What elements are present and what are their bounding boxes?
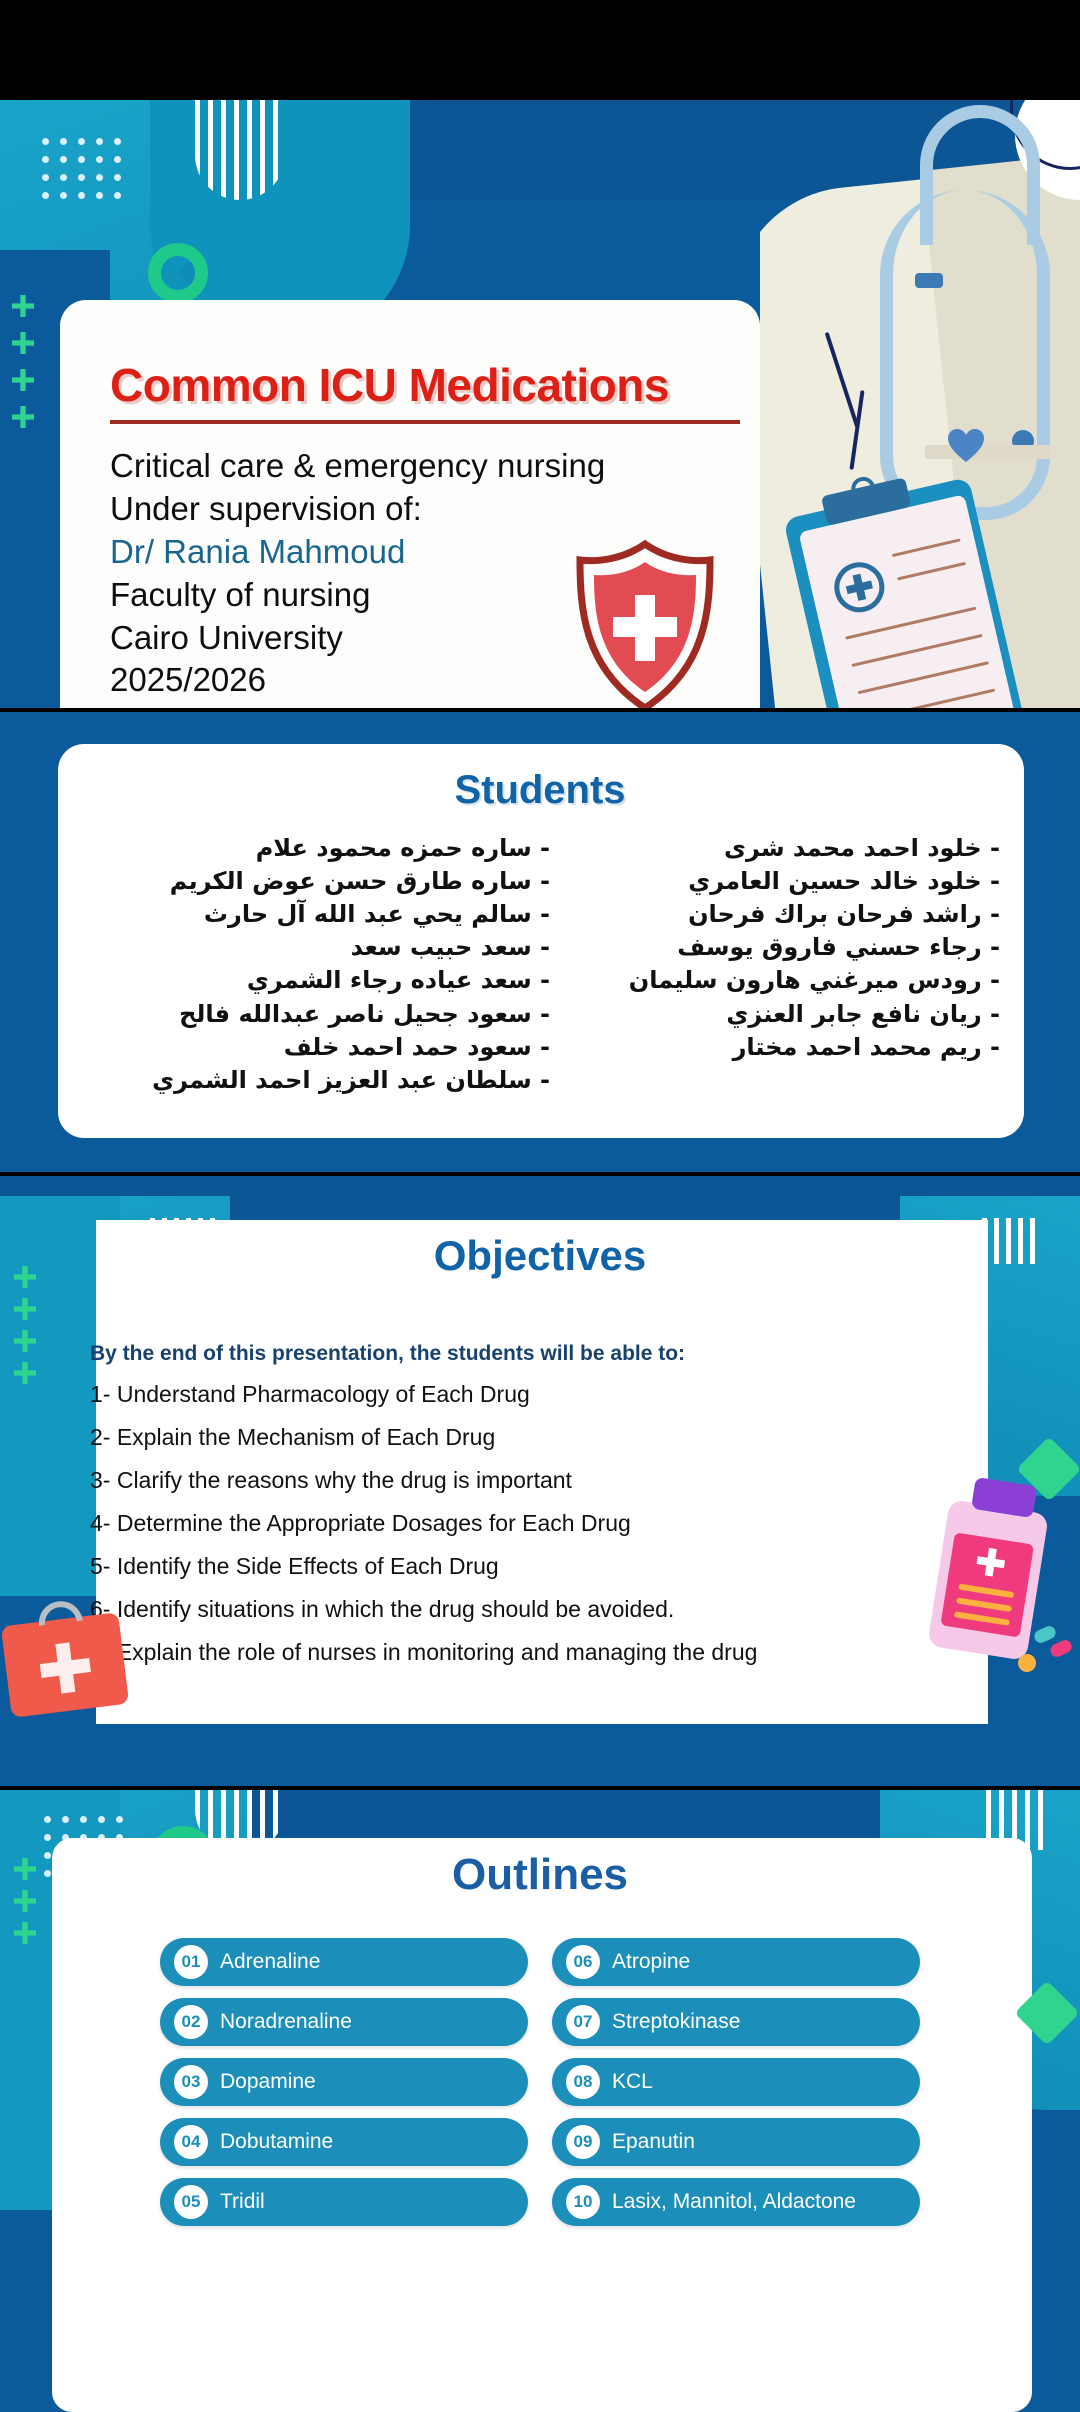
list-item: - سالم يحي عبد الله آل حارث [110, 898, 550, 931]
outline-label: KCL [612, 2070, 653, 2094]
outline-item-tridil[interactable]: 05 Tridil [160, 2178, 528, 2226]
list-item: 6- Identify situations in which the drug… [90, 1596, 970, 1623]
presentation-screenshot: Common ICU Medications Critical care & e… [0, 0, 1080, 2412]
stethoscope-clip [915, 273, 943, 288]
list-item: 3- Clarify the reasons why the drug is i… [90, 1467, 970, 1494]
outline-item-dopamine[interactable]: 03 Dopamine [160, 2058, 528, 2106]
outline-number: 09 [566, 2125, 600, 2159]
outline-item-atropine[interactable]: 06 Atropine [552, 1938, 920, 1986]
subtitle-line-6: 2025/2026 [110, 659, 605, 702]
students-column-right: - خلود احمد محمد شرى - خلود خالد حسين ال… [580, 832, 1000, 1064]
list-item: 5- Identify the Side Effects of Each Dru… [90, 1553, 970, 1580]
outline-number: 05 [174, 2185, 208, 2219]
list-item: - سعود جحيل ناصر عبدالله فالح [110, 998, 550, 1031]
outline-label: Tridil [220, 2190, 265, 2214]
subtitle-line-5: Cairo University [110, 617, 605, 660]
outline-item-lasix-mannitol-aldactone[interactable]: 10 Lasix, Mannitol, Aldactone [552, 2178, 920, 2226]
list-item: - رودس ميرغني هارون سليمان [580, 964, 1000, 997]
outlines-heading: Outlines [0, 1850, 1080, 1900]
list-item: - سعد حبيب سعد [110, 931, 550, 964]
outline-number: 10 [566, 2185, 600, 2219]
outline-number: 06 [566, 1945, 600, 1979]
medical-cross-icon [975, 1546, 1007, 1578]
outline-item-streptokinase[interactable]: 07 Streptokinase [552, 1998, 920, 2046]
outline-label: Dobutamine [220, 2130, 333, 2154]
subtitle-line-2: Under supervision of: [110, 488, 605, 531]
students-heading: Students [0, 768, 1080, 813]
outline-label: Atropine [612, 1950, 690, 1974]
list-item: - ساره حمزه محمود علام [110, 832, 550, 865]
slide-title: Common ICU Medications Critical care & e… [0, 100, 1080, 708]
outline-number: 08 [566, 2065, 600, 2099]
list-item: - راشد فرحان براك فرحان [580, 898, 1000, 931]
objectives-list: 1- Understand Pharmacology of Each Drug … [90, 1381, 970, 1682]
subtitle-line-1: Critical care & emergency nursing [110, 445, 605, 488]
supervisor-name: Dr/ Rania Mahmoud [110, 531, 605, 574]
list-item: 2- Explain the Mechanism of Each Drug [90, 1424, 970, 1451]
doctor-illustration [760, 100, 1080, 708]
medical-shield-icon [570, 540, 720, 708]
first-aid-kit-icon [1, 1612, 129, 1718]
outline-label: Noradrenaline [220, 2010, 352, 2034]
medical-cross-icon [829, 557, 889, 617]
dot-grid-decor [42, 138, 132, 198]
slide-objectives: Objectives By the end of this presentati… [0, 1176, 1080, 1786]
list-item: - ريم محمد احمد مختار [580, 1031, 1000, 1064]
outline-number: 04 [174, 2125, 208, 2159]
objectives-heading: Objectives [0, 1232, 1080, 1280]
outline-label: Adrenaline [220, 1950, 320, 1974]
name-badge [925, 445, 1050, 459]
outline-number: 07 [566, 2005, 600, 2039]
page-title: Common ICU Medications [110, 358, 669, 412]
heart-icon [948, 429, 984, 463]
slide-outlines: Outlines 01 Adrenaline 06 Atropine 02 No… [0, 1790, 1080, 2412]
stripe-decor [195, 100, 285, 200]
outline-item-kcl[interactable]: 08 KCL [552, 2058, 920, 2106]
outline-number: 02 [174, 2005, 208, 2039]
list-item: - خلود خالد حسين العامري [580, 865, 1000, 898]
outline-label: Lasix, Mannitol, Aldactone [612, 2190, 856, 2214]
outlines-grid: 01 Adrenaline 06 Atropine 02 Noradrenali… [160, 1938, 920, 2226]
stethoscope-icon [880, 190, 1050, 520]
title-underline [110, 420, 740, 424]
outline-item-adrenaline[interactable]: 01 Adrenaline [160, 1938, 528, 1986]
list-item: 1- Understand Pharmacology of Each Drug [90, 1381, 970, 1408]
outline-label: Streptokinase [612, 2010, 740, 2034]
outline-item-epanutin[interactable]: 09 Epanutin [552, 2118, 920, 2166]
list-item: - سلطان عبد العزيز احمد الشمري [110, 1064, 550, 1097]
list-item: - ريان نافع جابر العنزي [580, 998, 1000, 1031]
title-subtext: Critical care & emergency nursing Under … [110, 445, 605, 702]
outline-item-dobutamine[interactable]: 04 Dobutamine [160, 2118, 528, 2166]
outline-item-noradrenaline[interactable]: 02 Noradrenaline [160, 1998, 528, 2046]
outline-label: Dopamine [220, 2070, 316, 2094]
slide-students: Students - خلود احمد محمد شرى - خلود خال… [0, 712, 1080, 1172]
list-item: - رجاء حسني فاروق يوسف [580, 931, 1000, 964]
medical-cross-icon [38, 1640, 94, 1696]
list-item: 7- Explain the role of nurses in monitor… [90, 1639, 970, 1666]
list-item: - سعود حمد احمد خلف [110, 1031, 550, 1064]
list-item: - سعد عياده رجاء الشمري [110, 964, 550, 997]
list-item: 4- Determine the Appropriate Dosages for… [90, 1510, 970, 1537]
objectives-lead-text: By the end of this presentation, the stu… [90, 1342, 685, 1366]
outline-label: Epanutin [612, 2130, 695, 2154]
green-ring-decor [148, 243, 208, 303]
subtitle-line-4: Faculty of nursing [110, 574, 605, 617]
outline-number: 03 [174, 2065, 208, 2099]
outline-number: 01 [174, 1945, 208, 1979]
list-item: - ساره طارق حسن عوض الكريم [110, 865, 550, 898]
bottle-label [940, 1532, 1034, 1637]
students-column-left: - ساره حمزه محمود علام - ساره طارق حسن ع… [110, 832, 550, 1097]
list-item: - خلود احمد محمد شرى [580, 832, 1000, 865]
